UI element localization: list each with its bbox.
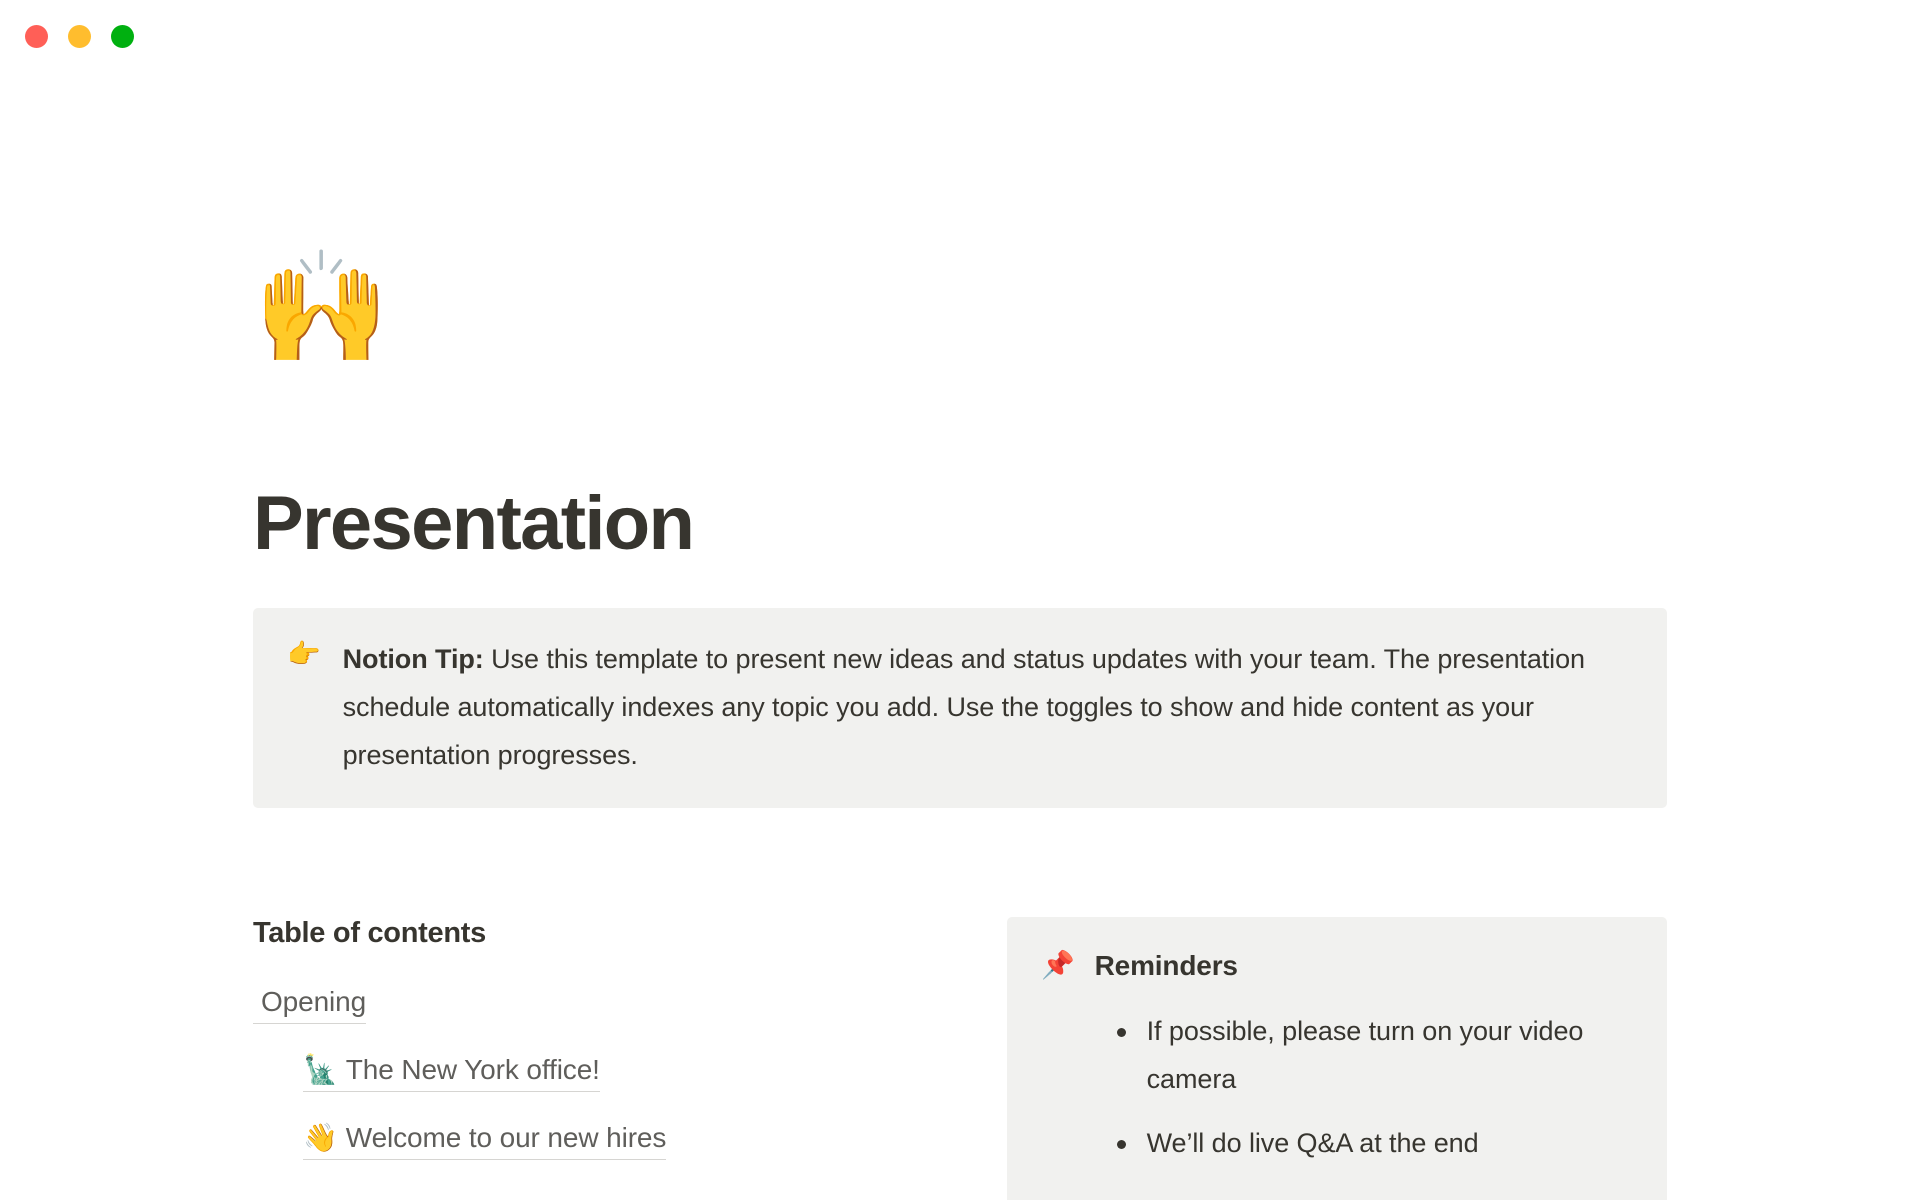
toc-link-welcome-to-our-new-hires[interactable]: 👋Welcome to our new hires [303, 1120, 666, 1160]
statue-of-liberty-icon: 🗽 [303, 1053, 338, 1086]
reminders-body: Reminders If possible, please turn on yo… [1095, 947, 1633, 1183]
notion-tip-label: Notion Tip: [343, 644, 484, 674]
table-of-contents-list: Opening 🗽The New York office! 👋Welcome t… [253, 984, 1007, 1160]
page-title: Presentation [253, 482, 693, 566]
two-column-section: Table of contents Opening 🗽The New York … [253, 917, 1667, 1200]
waving-hand-icon: 👋 [303, 1121, 338, 1154]
notion-tip-text: Notion Tip: Use this template to present… [343, 635, 1633, 779]
raising-hands-emoji[interactable]: 🙌 [253, 252, 390, 362]
table-of-contents-column: Table of contents Opening 🗽The New York … [253, 917, 1007, 1200]
reminders-title: Reminders [1095, 947, 1633, 985]
document-page: 🙌 Presentation 👉 Notion Tip: Use this te… [0, 62, 1920, 1200]
maximize-window-button[interactable] [111, 25, 134, 48]
table-of-contents-heading: Table of contents [253, 917, 1007, 950]
list-item: We’ll do live Q&A at the end [1095, 1119, 1633, 1167]
window-controls [25, 25, 134, 48]
notion-tip-callout: 👉 Notion Tip: Use this template to prese… [253, 608, 1667, 808]
close-window-button[interactable] [25, 25, 48, 48]
toc-item-label: The New York office! [346, 1054, 600, 1085]
window-titlebar [0, 0, 1920, 62]
toc-item-label: Opening [261, 986, 366, 1017]
reminders-list: If possible, please turn on your video c… [1095, 1007, 1633, 1167]
list-item: 🗽The New York office! [303, 1052, 1007, 1092]
reminders-callout: 📌 Reminders If possible, please turn on … [1007, 917, 1667, 1200]
minimize-window-button[interactable] [68, 25, 91, 48]
toc-link-the-new-york-office[interactable]: 🗽The New York office! [303, 1052, 600, 1092]
toc-link-opening[interactable]: Opening [253, 984, 366, 1024]
list-item: 👋Welcome to our new hires [303, 1120, 1007, 1160]
pointing-right-emoji: 👉 [287, 635, 321, 675]
reminders-column: 📌 Reminders If possible, please turn on … [1007, 917, 1667, 1200]
toc-item-label: Welcome to our new hires [346, 1122, 667, 1153]
list-item: If possible, please turn on your video c… [1095, 1007, 1633, 1103]
pushpin-emoji: 📌 [1041, 947, 1075, 985]
list-item: Opening [253, 984, 1007, 1024]
notion-tip-body: Use this template to present new ideas a… [343, 644, 1585, 770]
app-window: 🙌 Presentation 👉 Notion Tip: Use this te… [0, 0, 1920, 1200]
